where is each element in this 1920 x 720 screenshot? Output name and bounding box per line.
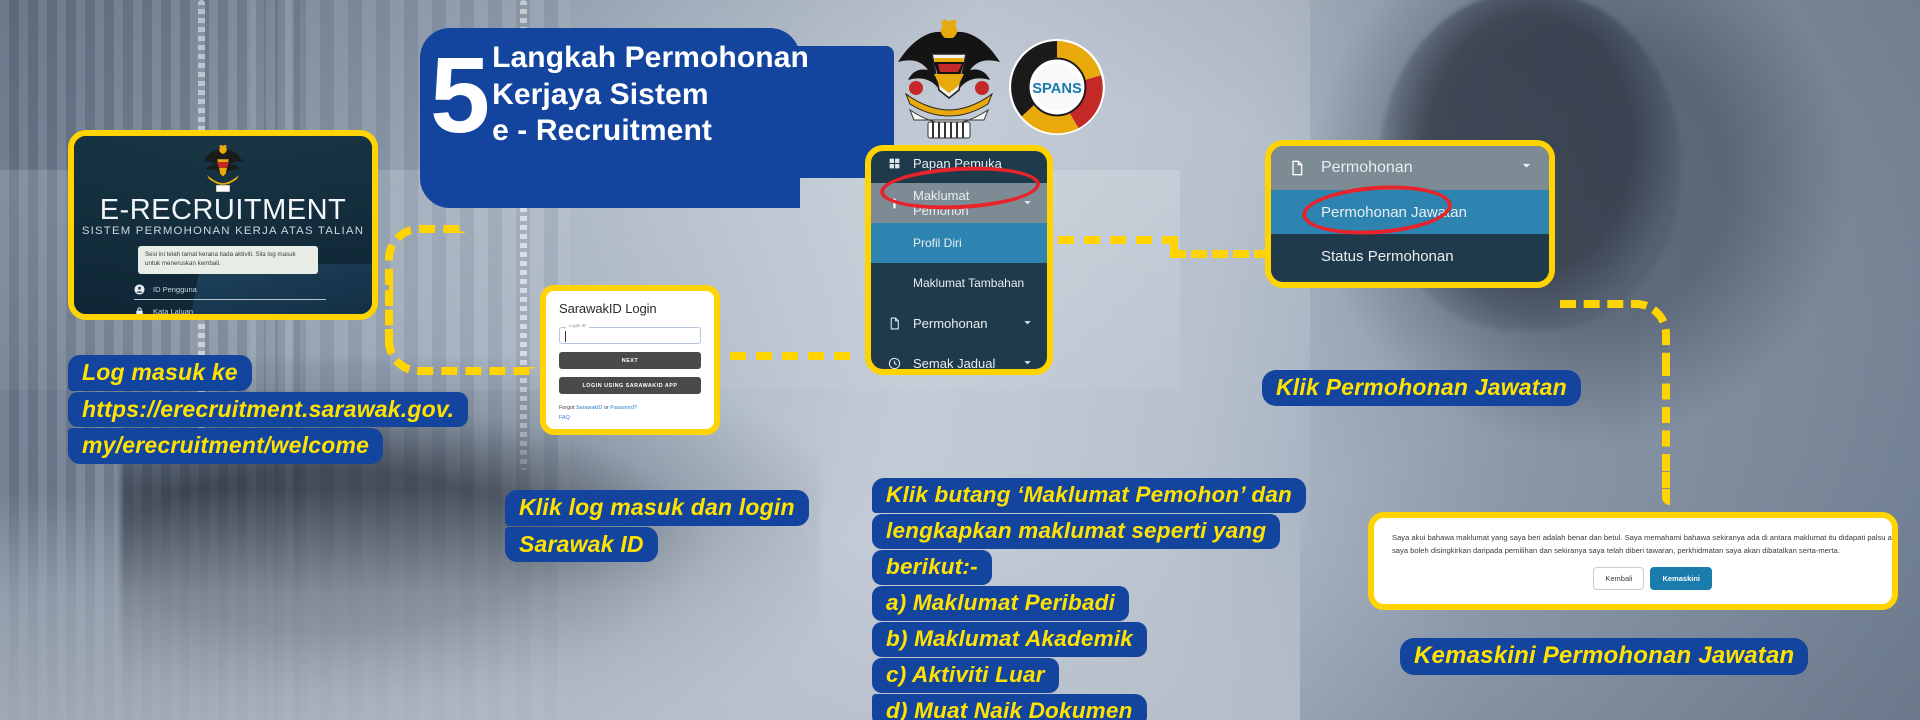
forgot-prefix: Forgot [559, 405, 576, 411]
erecruitment-title: E-RECRUITMENT [74, 194, 372, 227]
connector-arrow-4c [1662, 455, 1670, 505]
caption-line: https://erecruitment.sarawak.gov. [68, 392, 468, 428]
clock-icon [885, 357, 903, 370]
menu-label: Maklumat Tambahan [913, 276, 1024, 290]
sarawakid-login-screenshot[interactable]: SarawakID Login Login ID NEXT LOGIN USIN… [540, 285, 720, 435]
menu-label: Maklumat Pemohon [913, 188, 1022, 218]
chevron-down-icon [1022, 316, 1033, 331]
caption-line: Klik Permohonan Jawatan [1262, 370, 1581, 406]
chevron-down-icon [1520, 159, 1533, 177]
caption-steps: Klik butang ‘Maklumat Pemohon’ dan lengk… [872, 478, 1306, 720]
user-id-placeholder: ID Pengguna [153, 285, 197, 294]
caption-login-url: Log masuk ke https://erecruitment.sarawa… [68, 355, 468, 465]
menu-label: Status Permohonan [1321, 248, 1454, 265]
declaration-dialog-screenshot[interactable]: Saya akui bahawa maklumat yang saya beri… [1368, 512, 1898, 610]
sarawak-crest-small-icon [200, 144, 246, 194]
menu-label: Profil Diri [913, 236, 962, 250]
permohonan-menu-screenshot[interactable]: Permohonan Permohonan Jawatan Status Per… [1265, 140, 1555, 288]
menu-label: Permohonan [913, 316, 987, 331]
divider [559, 432, 701, 433]
chevron-down-icon [1022, 196, 1033, 211]
login-id-label: Login ID [566, 323, 589, 328]
connector-arrow-4b [1662, 360, 1670, 470]
caption-line: b) Maklumat Akademik [872, 622, 1147, 657]
password-placeholder: Kata Laluan [153, 307, 193, 316]
next-button[interactable]: NEXT [559, 352, 701, 369]
connector-arrow-3c [1170, 250, 1270, 258]
kemaskini-button[interactable]: Kemaskini [1650, 567, 1712, 590]
erecruitment-subtitle: SISTEM PERMOHONAN KERJA ATAS TALIAN [74, 225, 372, 237]
sarawakid-login-title: SarawakID Login [559, 301, 701, 316]
sarawak-state-crest-icon [888, 18, 1010, 146]
lock-icon [134, 306, 145, 317]
caption-line: my/erecruitment/welcome [68, 428, 383, 464]
text-caret [565, 331, 566, 342]
menu-label: Semak Jadual [913, 356, 995, 371]
connector-arrow-1 [385, 225, 465, 293]
menu-item-status-permohonan[interactable]: Status Permohonan [1271, 234, 1549, 278]
declaration-text: Saya akui bahawa maklumat yang saya beri… [1392, 532, 1898, 557]
step-number: 5 [430, 43, 488, 147]
login-using-app-button[interactable]: LOGIN USING SARAWAKID APP [559, 377, 701, 394]
caption-kemaskini-permohonan-jawatan: Kemaskini Permohonan Jawatan [1400, 638, 1808, 676]
title-block: 5 Langkah Permohonan Kerjaya Sistem e - … [430, 40, 809, 150]
session-expired-alert: Sesi ini telah tamat kerana tiada aktivi… [138, 246, 318, 274]
login-id-input[interactable]: Login ID [559, 327, 701, 344]
connector-arrow-3 [1058, 236, 1178, 244]
caption-click-permohonan-jawatan: Klik Permohonan Jawatan [1262, 370, 1581, 407]
caption-click-login: Klik log masuk dan login Sarawak ID [505, 490, 809, 563]
menu-item-maklumat-tambahan[interactable]: Maklumat Tambahan [871, 263, 1047, 303]
menu-item-papan-pemuka[interactable]: Papan Pemuka [871, 145, 1047, 183]
caption-line: d) Muat Naik Dokumen [872, 694, 1147, 720]
caption-line: Log masuk ke [68, 355, 252, 391]
help-links: Forgot SarawakID or Password? FAQ [559, 403, 701, 424]
forgot-sarawakid-link[interactable]: SarawakID [576, 405, 602, 411]
page-title: Langkah Permohonan Kerjaya Sistem e - Re… [492, 40, 809, 150]
connector-arrow-2 [730, 352, 850, 360]
user-icon [134, 284, 145, 295]
caption-line: berikut:- [872, 550, 992, 585]
caption-line: Klik butang ‘Maklumat Pemohon’ dan [872, 478, 1306, 513]
menu-label: Papan Pemuka [913, 156, 1002, 171]
caption-line: lengkapkan maklumat seperti yang [872, 514, 1280, 549]
info-icon [885, 197, 903, 210]
menu-item-profil-diri[interactable]: Profil Diri [871, 223, 1047, 263]
user-id-field[interactable]: ID Pengguna [134, 280, 326, 300]
menu-label: Permohonan [1321, 159, 1413, 177]
caption-line: a) Maklumat Peribadi [872, 586, 1129, 621]
dashboard-icon [885, 157, 903, 170]
erecruitment-login-screenshot[interactable]: E-RECRUITMENT SISTEM PERMOHONAN KERJA AT… [68, 130, 378, 320]
declaration-actions: Kembali Kemaskini [1593, 567, 1712, 590]
menu-item-permohonan[interactable]: Permohonan [871, 303, 1047, 343]
menu-label: Permohonan Jawatan [1321, 204, 1467, 221]
kembali-button[interactable]: Kembali [1593, 567, 1644, 590]
menu-item-semak-jadual[interactable]: Semak Jadual [1271, 278, 1549, 288]
caption-line: Sarawak ID [505, 527, 658, 563]
faq-link[interactable]: FAQ [559, 415, 570, 421]
document-icon [885, 317, 903, 330]
menu-item-maklumat-pemohon[interactable]: Maklumat Pemohon [871, 183, 1047, 223]
maklumat-pemohon-menu-screenshot[interactable]: Papan Pemuka Maklumat Pemohon Profil Dir… [865, 145, 1053, 375]
svg-text:SPANS: SPANS [1032, 81, 1082, 97]
document-icon [1287, 160, 1307, 176]
menu-item-permohonan-jawatan[interactable]: Permohonan Jawatan [1271, 190, 1549, 234]
menu-item-semak-jadual[interactable]: Semak Jadual [871, 343, 1047, 375]
caption-line: Kemaskini Permohonan Jawatan [1400, 638, 1808, 675]
chevron-down-icon [1022, 356, 1033, 371]
password-field[interactable]: Kata Laluan [134, 302, 326, 320]
forgot-line: Forgot SarawakID or Password? [559, 403, 701, 413]
caption-line: c) Aktiviti Luar [872, 658, 1059, 693]
spans-logo-icon: SPANS [1008, 38, 1106, 136]
forgot-password-link[interactable]: Password? [610, 405, 637, 411]
caption-line: Klik log masuk dan login [505, 490, 809, 526]
menu-item-permohonan[interactable]: Permohonan [1271, 146, 1549, 190]
connector-arrow-4 [1560, 300, 1670, 370]
